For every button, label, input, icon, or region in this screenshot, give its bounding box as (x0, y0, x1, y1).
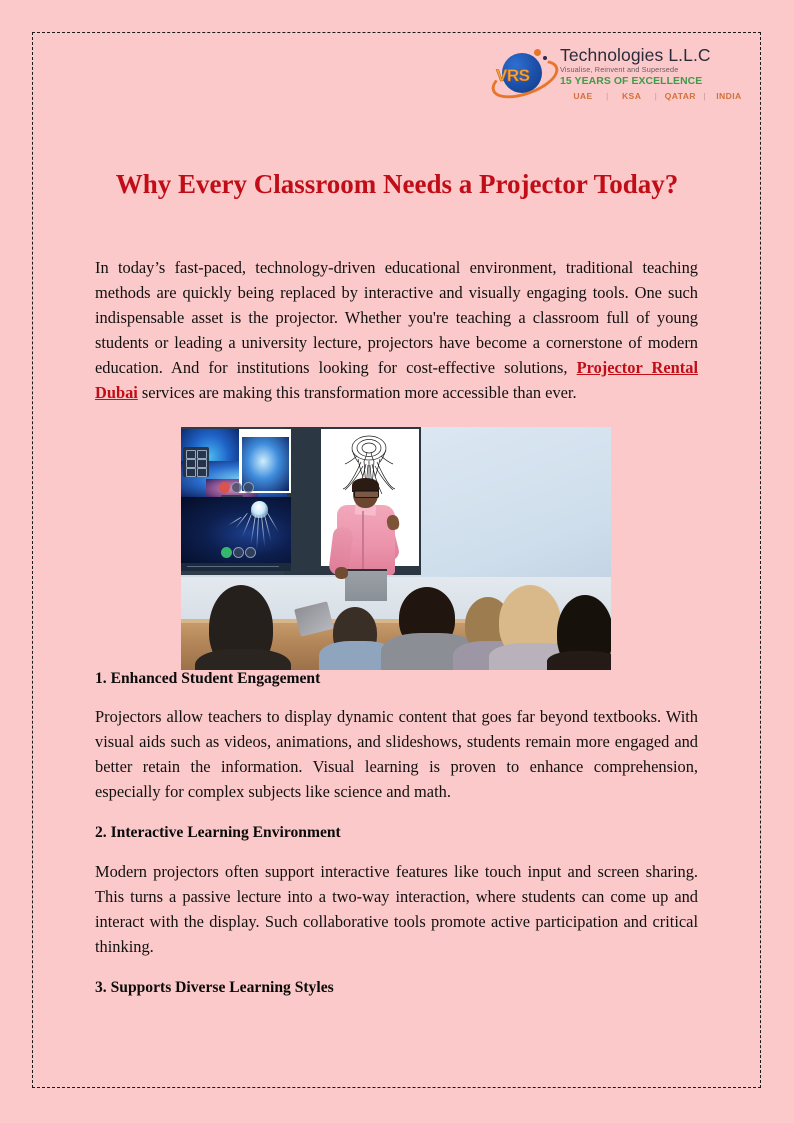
page-title: Why Every Classroom Needs a Projector To… (97, 166, 697, 203)
teacher-left-hand (335, 567, 348, 579)
page-content: VRS Technologies L.L.C Visualise, Reinve… (0, 0, 794, 1123)
control-icon (197, 459, 207, 468)
country-india: INDIA (706, 91, 752, 101)
student-body (547, 651, 611, 670)
spacer (95, 689, 698, 705)
vrs-globe-icon: VRS (490, 47, 556, 103)
spacer (95, 805, 698, 822)
end-call-icon (219, 482, 230, 493)
teacher-shirt-placket (362, 511, 364, 569)
country-uae: UAE (560, 91, 606, 101)
company-tagline: Visualise, Reinvent and Supersede (560, 65, 752, 74)
country-ksa: KSA (609, 91, 655, 101)
intro-text-after-link: services are making this transformation … (138, 383, 577, 402)
section-body-1: Projectors allow teachers to display dyn… (95, 705, 698, 805)
country-list: UAE | KSA | QATAR | INDIA (560, 91, 752, 101)
teacher-right-hand (386, 514, 400, 531)
control-circle-icon (243, 482, 254, 493)
company-name: Technologies L.L.C (560, 46, 752, 64)
country-qatar: QATAR (657, 91, 703, 101)
document-page: VRS Technologies L.L.C Visualise, Reinve… (0, 0, 794, 1123)
control-circle-icon (231, 482, 242, 493)
section-heading-2: 2. Interactive Learning Environment (95, 822, 698, 844)
company-logo: VRS Technologies L.L.C Visualise, Reinve… (490, 45, 702, 110)
student-body (195, 649, 291, 670)
panel-label (241, 430, 242, 434)
teacher-figure (329, 479, 405, 599)
glasses-icon (354, 490, 379, 498)
teacher-trousers (345, 571, 387, 601)
control-icon (186, 450, 196, 459)
control-circle-icon (245, 547, 256, 558)
jellyfish-bell-icon (251, 501, 268, 518)
video-controls-panel (183, 447, 209, 477)
orange-dot-icon (534, 49, 541, 56)
photo-wall-right (419, 427, 611, 579)
section-body-2: Modern projectors often support interact… (95, 860, 698, 960)
spacer (95, 960, 698, 977)
progress-line (187, 566, 279, 567)
accept-call-icon (221, 547, 232, 558)
control-icon (197, 450, 207, 459)
spacer (95, 844, 698, 860)
logo-text-block: Technologies L.L.C Visualise, Reinvent a… (560, 45, 752, 101)
control-icon (186, 459, 196, 468)
control-circle-icon (233, 547, 244, 558)
control-icon (186, 468, 196, 477)
section-heading-3: 3. Supports Diverse Learning Styles (95, 977, 698, 999)
control-icon (197, 468, 207, 477)
classroom-projector-photo (181, 427, 611, 670)
vrs-wordmark: VRS (496, 66, 529, 86)
intro-paragraph: In today’s fast-paced, technology-driven… (95, 256, 698, 406)
years-of-excellence-badge: 15 YEARS OF EXCELLENCE (560, 76, 752, 87)
section-heading-1: 1. Enhanced Student Engagement (95, 668, 698, 690)
